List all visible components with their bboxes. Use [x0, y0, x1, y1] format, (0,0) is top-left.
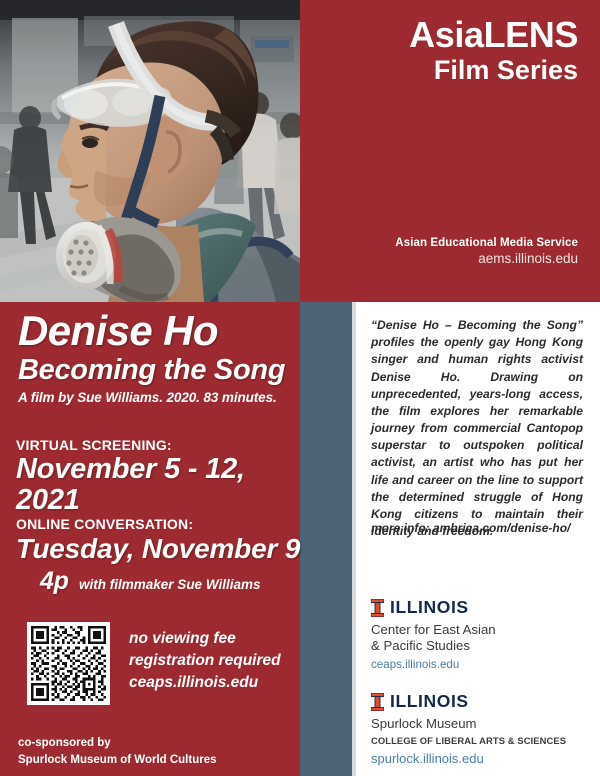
- illinois-wordmark: ILLINOIS: [390, 599, 469, 617]
- screening-block: VIRTUAL SCREENING: November 5 - 12, 2021: [16, 437, 306, 517]
- aems-url[interactable]: aems.illinois.edu: [395, 251, 578, 266]
- film-credit: A film by Sue Williams. 2020. 83 minutes…: [18, 390, 298, 405]
- ceaps-unit-line-2: & Pacific Studies: [371, 638, 496, 654]
- film-title: Denise Ho: [18, 310, 298, 352]
- ceaps-unit-line-1: Center for East Asian: [371, 622, 496, 638]
- protester-photo: [0, 0, 300, 302]
- registration-line-1: no viewing fee: [129, 628, 281, 650]
- synopsis-text: “Denise Ho – Becoming the Song” profiles…: [371, 317, 583, 540]
- accent-strip-edge: [352, 302, 356, 776]
- slate-accent-strip: [300, 302, 352, 776]
- conversation-date: Tuesday, November 9: [16, 534, 306, 564]
- spurlock-college-name: COLLEGE OF LIBERAL ARTS & SCIENCES: [371, 735, 566, 746]
- aems-org-name: Asian Educational Media Service: [395, 237, 578, 249]
- conversation-time-note: with filmmaker Sue Williams: [79, 577, 260, 592]
- aems-block: Asian Educational Media Service aems.ill…: [395, 237, 578, 266]
- spurlock-logo-block: ILLINOIS Spurlock Museum COLLEGE OF LIBE…: [371, 692, 566, 766]
- conversation-time-row: 4p with filmmaker Sue Williams: [16, 567, 306, 596]
- screening-dates: November 5 - 12, 2021: [16, 454, 306, 517]
- ceaps-url[interactable]: ceaps.illinois.edu: [371, 658, 496, 671]
- conversation-time: 4p: [40, 567, 69, 595]
- cosponsor-label: co-sponsored by: [18, 735, 217, 752]
- ceaps-unit-name: Center for East Asian & Pacific Studies: [371, 622, 496, 654]
- film-title-block: Denise Ho Becoming the Song A film by Su…: [18, 310, 298, 405]
- illinois-block-i-icon: [371, 599, 384, 617]
- poster: AsiaLENS Film Series Asian Educational M…: [0, 0, 600, 776]
- cosponsor-block: co-sponsored by Spurlock Museum of World…: [18, 735, 217, 768]
- registration-line-2: registration required: [129, 650, 281, 672]
- brand-title: AsiaLENS: [350, 16, 578, 54]
- registration-line-3[interactable]: ceaps.illinois.edu: [129, 672, 281, 694]
- more-info-link[interactable]: more info: ambrica.com/denise-ho/: [371, 521, 586, 535]
- cosponsor-name: Spurlock Museum of World Cultures: [18, 752, 217, 769]
- screening-label: VIRTUAL SCREENING:: [16, 437, 306, 453]
- spurlock-unit-name: Spurlock Museum: [371, 716, 566, 732]
- qr-code-icon[interactable]: [27, 622, 110, 705]
- masthead: AsiaLENS Film Series Asian Educational M…: [350, 0, 600, 302]
- brand-subtitle: Film Series: [350, 56, 578, 86]
- illinois-block-i-icon: [371, 693, 384, 711]
- registration-text: no viewing fee registration required cea…: [129, 628, 281, 694]
- illinois-wordmark-row: ILLINOIS: [371, 598, 496, 617]
- illinois-wordmark: ILLINOIS: [390, 693, 469, 711]
- illinois-wordmark-row: ILLINOIS: [371, 692, 566, 711]
- spurlock-url[interactable]: spurlock.illinois.edu: [371, 751, 566, 766]
- conversation-label: ONLINE CONVERSATION:: [16, 516, 306, 532]
- conversation-block: ONLINE CONVERSATION: Tuesday, November 9…: [16, 516, 306, 596]
- ceaps-logo-block: ILLINOIS Center for East Asian & Pacific…: [371, 598, 496, 671]
- registration-block: no viewing fee registration required cea…: [27, 622, 281, 705]
- film-subtitle: Becoming the Song: [18, 355, 298, 385]
